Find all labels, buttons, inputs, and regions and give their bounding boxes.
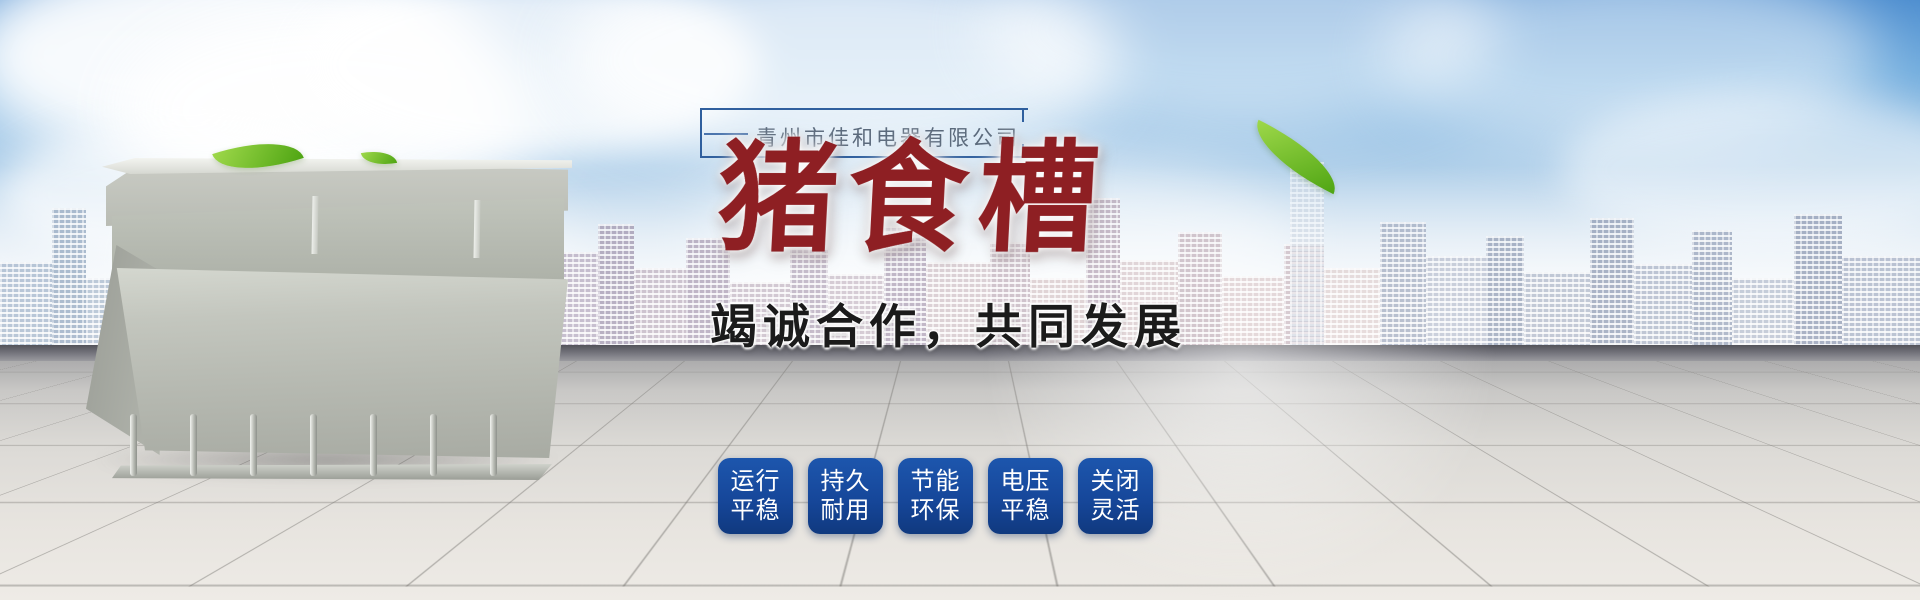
feature-badge-line1: 持久: [821, 467, 871, 496]
feature-badge-line2: 灵活: [1091, 496, 1141, 525]
product-image-pig-feeding-trough: [72, 150, 572, 480]
frame-top-right-stub: [1006, 108, 1028, 110]
feature-badge-line2: 耐用: [821, 496, 871, 525]
promo-banner: 青州市佳和电器有限公司 猪食槽 竭诚合作，共同发展 运行 平稳 持久 耐用 节能…: [0, 0, 1920, 600]
feature-badge-list: 运行 平稳 持久 耐用 节能 环保 电压 平稳 关闭 灵活: [718, 458, 1153, 534]
feature-badge-line2: 平稳: [731, 496, 781, 525]
feature-badge[interactable]: 节能 环保: [898, 458, 973, 534]
feature-badge-line1: 电压: [1001, 467, 1051, 496]
page-title: 猪食槽: [715, 140, 1111, 260]
subtitle-slogan: 竭诚合作，共同发展: [710, 288, 1187, 357]
feature-badge-line1: 节能: [911, 467, 961, 496]
feature-badge-line2: 平稳: [1001, 496, 1051, 525]
feature-badge[interactable]: 持久 耐用: [808, 458, 883, 534]
feature-badge-line1: 关闭: [1091, 467, 1141, 496]
feature-badge[interactable]: 电压 平稳: [988, 458, 1063, 534]
feature-badge-line1: 运行: [731, 467, 781, 496]
feature-badge[interactable]: 关闭 灵活: [1078, 458, 1153, 534]
feature-badge[interactable]: 运行 平稳: [718, 458, 793, 534]
feature-badge-line2: 环保: [911, 496, 961, 525]
